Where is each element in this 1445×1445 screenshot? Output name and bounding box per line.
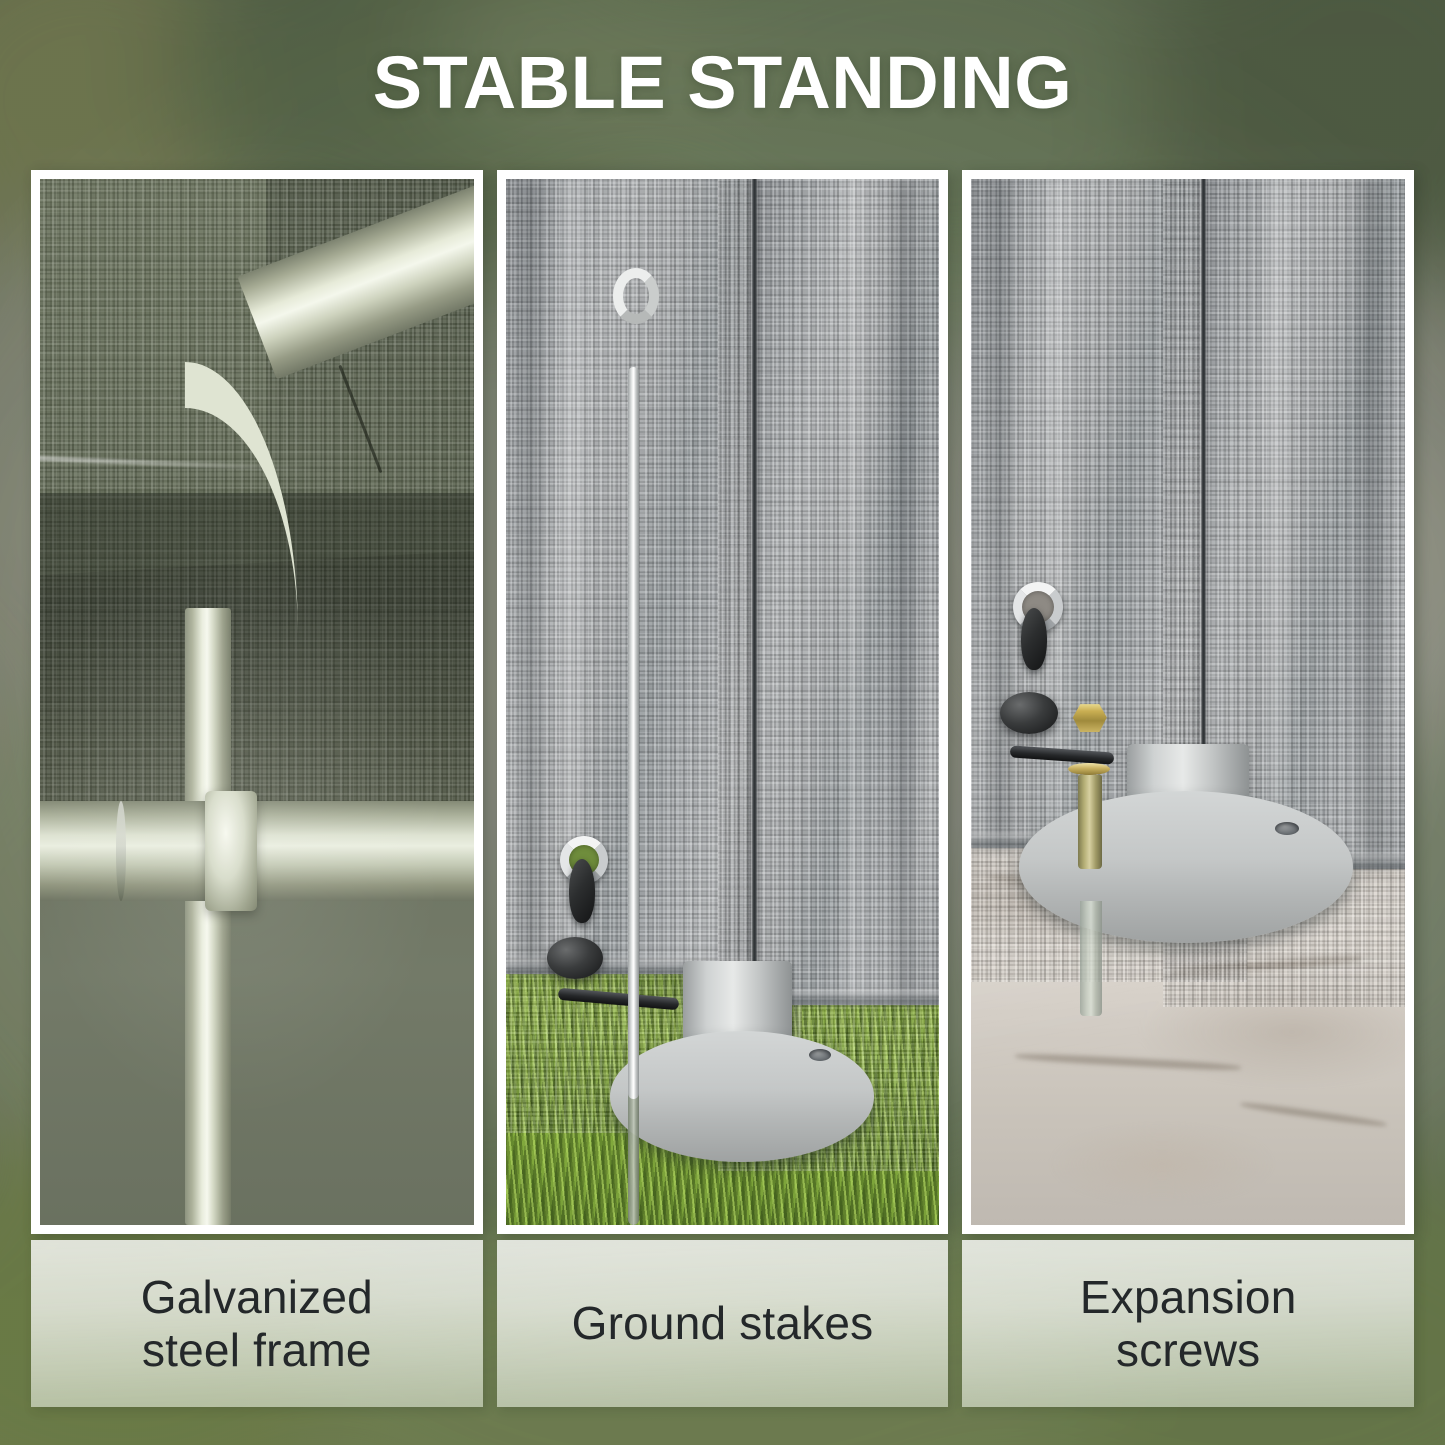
caption-label: Expansion screws — [1080, 1271, 1297, 1376]
pavement-crack — [1240, 1101, 1387, 1128]
expansion-bolt-anchor-sleeve — [1080, 901, 1102, 1016]
caption-row: Galvanized steel frame Ground stakes Exp… — [31, 1240, 1414, 1407]
tarp-wall-right — [755, 179, 939, 1005]
photo-ground-stakes — [506, 179, 940, 1225]
caption-box-expansion-screws: Expansion screws — [962, 1240, 1414, 1407]
ground-stake-loop-head — [613, 268, 659, 324]
pavement-crack — [1015, 1052, 1241, 1072]
bungee-ball-tie — [547, 937, 603, 979]
expansion-bolt-shaft — [1078, 775, 1102, 869]
caption-label: Ground stakes — [572, 1297, 874, 1349]
panel-ground-stakes — [497, 170, 949, 1234]
tarp-fold-highlight — [1260, 179, 1296, 869]
tarp-fold-highlight — [840, 179, 869, 1005]
infographic-canvas: STABLE STANDING — [0, 0, 1445, 1445]
headline-title: STABLE STANDING — [0, 46, 1445, 120]
panel-galvanized-steel-frame — [31, 170, 483, 1234]
tarp-fold-shadow — [888, 179, 921, 1005]
tarp-fold-shadow — [1353, 179, 1393, 869]
round-base-plate — [610, 1031, 875, 1162]
ground-stake-shaft — [628, 367, 639, 1099]
photo-galvanized-steel-frame — [40, 179, 474, 1225]
expansion-bolt-washer — [1068, 763, 1110, 775]
caption-box-galvanized-steel-frame: Galvanized steel frame — [31, 1240, 483, 1407]
panel-expansion-screws — [962, 170, 1414, 1234]
caption-label: Galvanized steel frame — [141, 1271, 373, 1376]
bungee-cord-loop — [569, 859, 595, 923]
tarp-fold-shadow — [516, 179, 546, 974]
photo-expansion-screws — [971, 179, 1405, 1225]
panel-row — [31, 170, 1414, 1234]
caption-box-ground-stakes: Ground stakes — [497, 1240, 949, 1407]
bungee-cord-loop — [1021, 608, 1047, 670]
tarp-vertical-seam — [751, 179, 758, 984]
bungee-ball-tie — [1000, 692, 1058, 734]
ground-stake-buried-shaft — [628, 1079, 639, 1225]
photo-highlight-gloss — [40, 179, 474, 1225]
round-base-plate — [1019, 791, 1353, 943]
